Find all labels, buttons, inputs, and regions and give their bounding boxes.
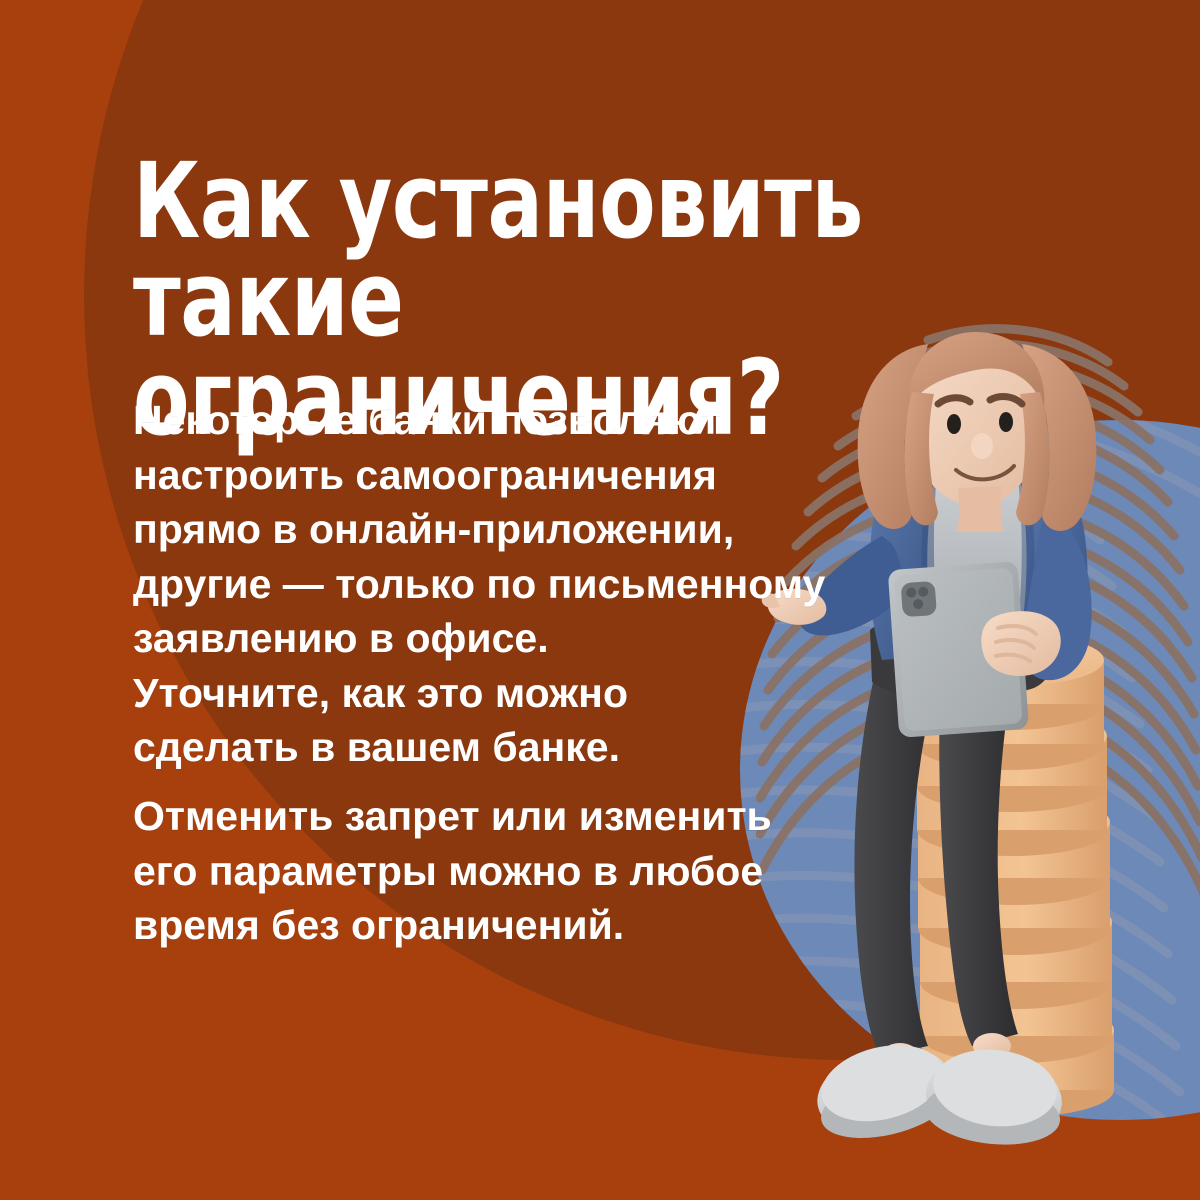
body-paragraph-1: Некоторые банки позволяют настроить само…	[133, 393, 833, 775]
body-paragraph-2: Отменить запрет или изменить его парамет…	[133, 789, 793, 953]
poster-canvas: Как установить такие ограничения? Некото…	[0, 0, 1200, 1200]
